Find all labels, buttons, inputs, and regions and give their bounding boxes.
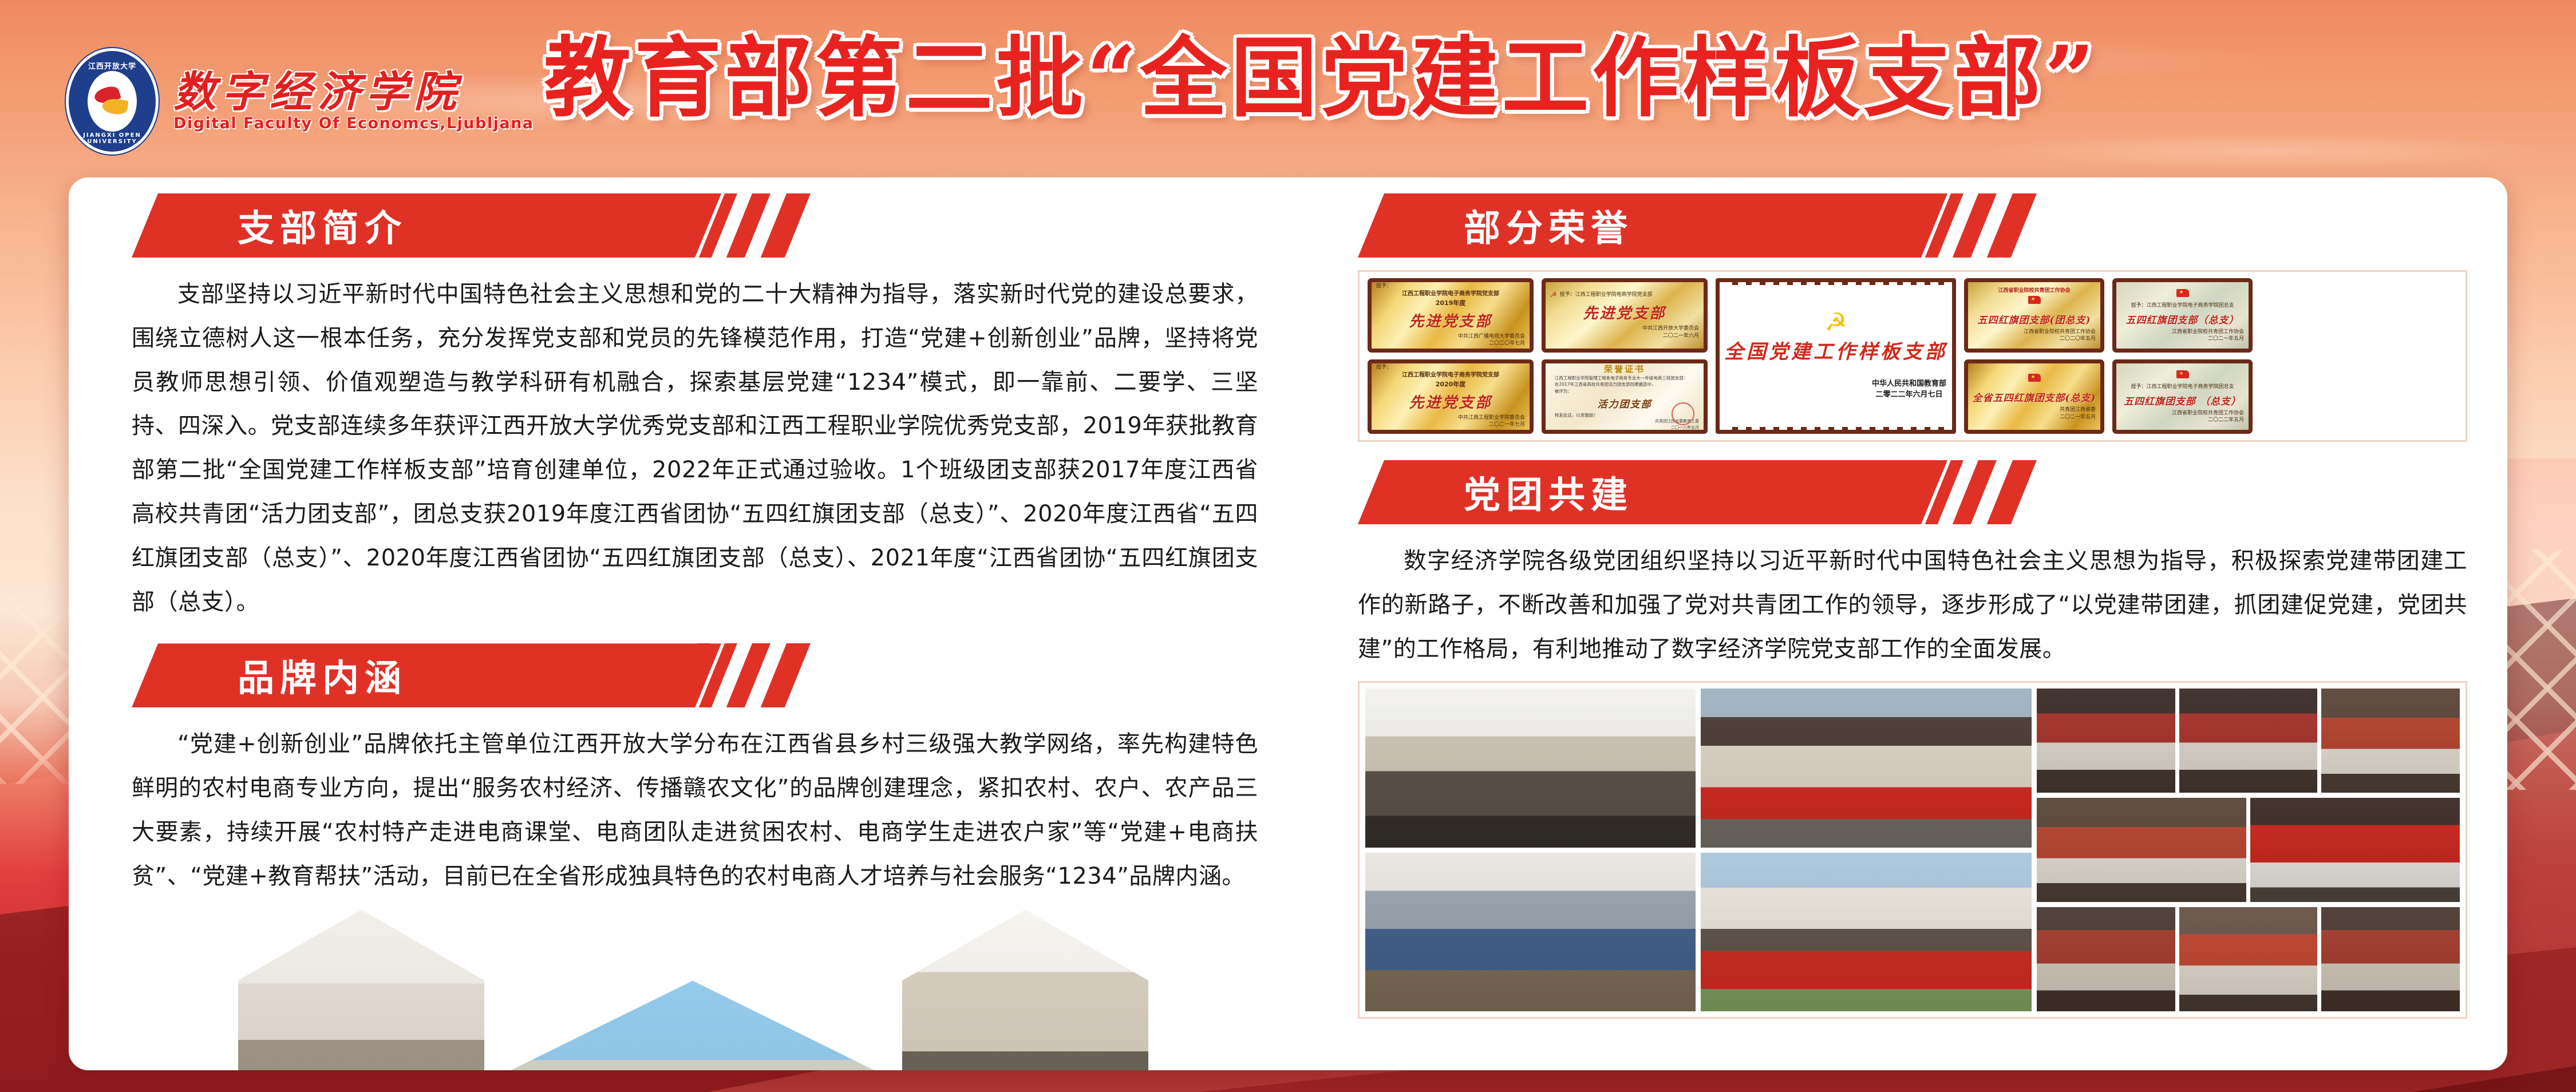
plaque-award-name: 先进党支部: [1409, 391, 1492, 412]
certificate-issuer: 中华人民共和国教育部: [1872, 379, 1946, 390]
seal-year: 1979: [69, 126, 156, 131]
photo-thumbnail: [2321, 689, 2460, 793]
photo-thumbnail: [2037, 798, 2246, 902]
certificate-award-name: 全国党建工作样板支部: [1724, 336, 1947, 364]
plaque-date: 二〇二一年五月: [2060, 414, 2096, 421]
photo-museum-group-1[interactable]: 八一馆参观 — 团旗合影: [2037, 689, 2175, 793]
plaque-2019-advanced-branch[interactable]: 授予： 江西工程职业学院电子商务学院党支部 2019年度 先进党支部 中共江西广…: [1368, 278, 1534, 353]
photo-subgrid-right: 八一馆参观 — 团旗合影 八一馆参观 — 队伍合影 江西工程职业学院电子商务学院…: [2037, 689, 2460, 1011]
content-panel: 支部简介 支部坚持以习近平新时代中国特色社会主义思想和党的二十大精神为指导，落实…: [69, 177, 2507, 1070]
youth-league-emblem-icon: ★: [2027, 373, 2042, 386]
photo-caption: 八一馆参观 — 队伍合影: [2179, 793, 2180, 793]
faculty-name-en: Digital Faculty Of Economcs,Ljubljana: [173, 114, 534, 132]
plaque-may-fourth-red-flag-branch-2022[interactable]: ★ 授予：江西工程职业学院电子商务学院团总支 五四红旗团支部 （总支） 江西省职…: [2112, 359, 2253, 434]
hammer-and-sickle-icon: ☭: [1824, 311, 1847, 334]
photo-lecture-hall[interactable]: 主题党课宣讲: [1365, 689, 1696, 848]
photo-caption: 展厅参观 — 队列: [2037, 1011, 2037, 1012]
section-body-brand-connotation: “党建+创新创业”品牌依托主管单位江西开放大学分布在江西省县乡村三级强大教学网络…: [132, 722, 1258, 898]
plaque-issuer: 中共江西开放大学委员会: [1642, 325, 1699, 333]
photo-museum-group-3[interactable]: 江西工程职业学院电子商务学院横幅合影: [2321, 689, 2460, 793]
section-header-party-league-building: 党团共建: [1358, 460, 2507, 524]
plaque-head: 江西省职业院校共青团工作协会: [1998, 288, 2070, 295]
photo-thumbnail: [2179, 907, 2318, 1011]
banner-stripes: [1919, 193, 2068, 258]
section-title-branch-intro: 支部简介: [132, 193, 704, 258]
photo-exhibition-hall-2[interactable]: 红色教育基地参观: [2250, 798, 2460, 902]
photo-village-team[interactable]: 江西工程职业学院电商乡村振兴团队: [1701, 853, 2031, 1012]
section-body-party-league-building: 数字经济学院各级党团组织坚持以习近平新时代中国特色社会主义思想为指导，积极探索党…: [1358, 539, 2467, 671]
plaque-issuer: 江西省职业院校共青团工作协会: [2172, 410, 2244, 417]
plaque-2020-advanced-branch[interactable]: 授予： 江西工程职业学院电子商务学院党支部 2020年度 先进党支部 中共江西工…: [1368, 359, 1534, 434]
photo-thumbnail: [2037, 689, 2175, 793]
plaque-issuer: 江西省职业院校共青团工作协会: [2172, 329, 2244, 336]
plaque-date: 二〇二〇年五月: [2060, 335, 2096, 343]
youth-league-emblem-icon: ★: [2175, 288, 2190, 302]
right-column: 部分荣誉 授予： 江西工程职业学院电子商务学院党支部 2019年度 先进党支部 …: [1322, 177, 2507, 1019]
plaque-group-mid: ☭ 授予：江西工程职业学院电商学院党支部 先进党支部 中共江西开放大学委员会 二…: [1542, 278, 1708, 434]
plaque-issuer: 中共江西工程职业学院委员会: [1458, 414, 1525, 422]
plaque-head: 授予：江西工程职业学院电子商务学院团总支: [2131, 384, 2234, 391]
certificate-line-3: 被评为：: [1555, 388, 1694, 394]
plaque-award-name: 五四红旗团支部（总支）: [2126, 312, 2239, 326]
photo-thumbnail: [1365, 689, 1696, 848]
red-seal-icon: [1672, 402, 1694, 425]
section-title-brand-connotation: 品牌内涵: [132, 643, 704, 707]
plaque-may-fourth-red-flag-branch-general[interactable]: ★ 授予：江西工程职业学院电子商务学院团总支 五四红旗团支部（总支） 江西省职业…: [2112, 278, 2253, 353]
plaque-award-name: 先进党支部: [1583, 302, 1666, 323]
photo-caption: 古祠堂前党旗合影: [1701, 848, 1701, 848]
page-title: 教育部第二批“全国党建工作样板支部”: [544, 30, 2536, 125]
section-title-party-league-building: 党团共建: [1358, 460, 1930, 524]
photo-thumbnail: [1701, 689, 2031, 848]
section-title-partial-honors: 部分荣誉: [1358, 193, 1930, 258]
party-emblem-icon: ☭: [1550, 291, 1557, 299]
plaque-advanced-branch-jxou[interactable]: ☭ 授予：江西工程职业学院电商学院党支部 先进党支部 中共江西开放大学委员会 二…: [1542, 278, 1708, 353]
plaque-head: 授予：: [1376, 283, 1392, 290]
photo-youth-flag-group[interactable]: 青春向党 红色新时代 — 团旗合影: [492, 981, 893, 1070]
plaque-date: 二〇二二年五月: [2208, 417, 2244, 424]
photo-home-visit[interactable]: 入户走访调研: [1365, 853, 1696, 1012]
photo-thumbnail: [902, 910, 1148, 1070]
seal-arc-bottom: JIANGXI OPEN UNIVERSITY: [69, 132, 156, 145]
seal-swoosh-icon: [94, 85, 130, 117]
photo-party-activity-room[interactable]: 党员活动室 / 党建文化墙: [238, 910, 484, 1070]
photo-thumbnail: [1701, 853, 2031, 1012]
banner-stripes: [1919, 460, 2068, 524]
plaque-award-name: 全省五四红旗团支部(总支): [1972, 390, 2096, 404]
photo-caption: 八一馆参观 — 团旗合影: [2037, 793, 2037, 793]
photo-thumbnail: [2179, 689, 2318, 793]
photo-thumbnail: [2321, 907, 2460, 1011]
certificate-date: 二零二二年六月七日: [1872, 390, 1946, 401]
faculty-name-cn: 数字经济学院: [173, 71, 534, 113]
photo-thumbnail: [2037, 907, 2175, 1011]
photo-thumbnail: [1365, 853, 1696, 1012]
university-seal-icon: 江西开放大学 1979 JIANGXI OPEN UNIVERSITY: [66, 48, 159, 155]
national-model-branch-certificate[interactable]: ☭ 全国党建工作样板支部 中华人民共和国教育部 二零二二年六月七日: [1716, 278, 1956, 434]
photo-exhibition-hall-1[interactable]: 展馆参观学习: [2037, 798, 2246, 902]
photo-thumbnail: [492, 981, 893, 1070]
photo-caption: 入户走访调研: [1365, 1011, 1366, 1012]
seal-inner: [88, 71, 137, 132]
banner-stripes: [693, 643, 841, 707]
photo-ancestral-hall-flag[interactable]: 古祠堂前党旗合影: [1701, 689, 2031, 848]
brand-text: 数字经济学院 Digital Faculty Of Economcs,Ljubl…: [173, 71, 534, 132]
poster-header: 江西开放大学 1979 JIANGXI OPEN UNIVERSITY 数字经济…: [0, 0, 2576, 183]
plaque-recipient: 江西工程职业学院电子商务学院党支部: [1402, 371, 1499, 379]
plaque-date: 二〇二一年六月: [1663, 333, 1699, 340]
photo-gallery-visit-2[interactable]: 展厅参观 — 合影: [2179, 907, 2318, 1011]
section-body-branch-intro: 支部坚持以习近平新时代中国特色社会主义思想和党的二十大精神为指导，落实新时代党的…: [132, 272, 1258, 624]
honor-certificate-vitality-league-branch[interactable]: 荣誉证书 江西工程职业学院管理工程系电子商务专业大一年级电商三班团支部： 在20…: [1542, 359, 1708, 434]
plaque-provincial-may-fourth-red-flag-2021[interactable]: ★ 全省五四红旗团支部(总支) 共青团江西省委 二〇二一年五月: [1964, 359, 2104, 434]
certificate-title: 荣誉证书: [1604, 363, 1645, 375]
section-header-partial-honors: 部分荣誉: [1358, 193, 2507, 258]
section-header-branch-intro: 支部简介: [132, 193, 1322, 258]
photo-caption: 江西工程职业学院电子商务学院横幅合影: [2321, 793, 2322, 793]
photo-conference-room[interactable]: 会议室 / 荣誉锦旗: [902, 910, 1148, 1070]
photo-thumbnail: [238, 910, 484, 1070]
plaque-year: 2020年度: [1436, 379, 1466, 389]
certificate-line-2: 在2017年江西省高校共青团活力团支部创建遴选中，: [1555, 381, 1694, 387]
plaque-award-name: 先进党支部: [1409, 310, 1492, 331]
hexagon-photo-collage: 党员活动室 / 党建文化墙 “不忘初心、牢记使命”主题教育活动-电商党支部关爱学…: [69, 918, 1322, 1070]
plaque-head: 授予：江西工程职业学院电子商务学院团总支: [2131, 303, 2234, 310]
youth-league-emblem-icon: ★: [2175, 369, 2190, 383]
photo-gallery-visit-3[interactable]: 展厅参观 — 浮雕前: [2321, 907, 2460, 1011]
plaque-date: 二〇二〇年七月: [1489, 340, 1525, 347]
seal-arc-top: 江西开放大学: [69, 60, 156, 71]
plaque-date: 二〇二一年七月: [1489, 421, 1525, 429]
plaque-head: 授予：: [1376, 365, 1392, 371]
activity-photo-grid: 主题党课宣讲 古祠堂前党旗合影 入户走访调研 江西工程职业学院电商乡村振兴团队: [1358, 681, 2467, 1019]
photo-caption: 展厅参观 — 浮雕前: [2321, 1011, 2322, 1012]
honors-board: 授予： 江西工程职业学院电子商务学院党支部 2019年度 先进党支部 中共江西广…: [1358, 270, 2467, 442]
plaque-recipient: 江西工程职业学院电子商务学院党支部: [1402, 290, 1499, 298]
banner-stripes: [693, 193, 841, 258]
photo-caption: 红色教育基地参观: [2250, 902, 2251, 903]
plaque-year: 2019年度: [1436, 298, 1466, 307]
plaque-issuer: 共青团江西省委: [2060, 406, 2096, 414]
plaque-group-right-2: ★ 授予：江西工程职业学院电子商务学院团总支 五四红旗团支部（总支） 江西省职业…: [2112, 278, 2253, 434]
brand-lockup: 江西开放大学 1979 JIANGXI OPEN UNIVERSITY 数字经济…: [66, 48, 534, 155]
photo-gallery-visit-1[interactable]: 展厅参观 — 队列: [2037, 907, 2175, 1011]
plaque-issuer: 中共江西广播电视大学委员会: [1458, 333, 1525, 341]
certificate-award-name: 活力团支部: [1598, 396, 1652, 410]
photo-thumbnail: [2250, 798, 2460, 902]
photo-caption: 展厅参观 — 合影: [2179, 1011, 2180, 1012]
plaque-award-name: 五四红旗团支部 （总支）: [2124, 393, 2241, 407]
plaque-date: 二〇二一年五月: [2208, 335, 2244, 343]
certificate-line-1: 江西工程职业学院管理工程系电子商务专业大一年级电商三班团支部：: [1555, 375, 1694, 381]
plaque-award-name: 五四红旗团支部(团总支): [1977, 312, 2091, 326]
poster-root: 江西开放大学 1979 JIANGXI OPEN UNIVERSITY 数字经济…: [0, 0, 2576, 1092]
youth-league-emblem-icon: ★: [2027, 295, 2042, 308]
plaque-group-right-1: 江西省职业院校共青团工作协会 ★ 五四红旗团支部(团总支) 江西省职业院校共青团…: [1964, 278, 2104, 434]
photo-museum-group-2[interactable]: 八一馆参观 — 队伍合影: [2179, 689, 2318, 793]
photo-caption: 主题党课宣讲: [1365, 848, 1366, 848]
left-column: 支部简介 支部坚持以习近平新时代中国特色社会主义思想和党的二十大精神为指导，落实…: [69, 177, 1322, 1070]
photo-caption: 江西工程职业学院电商乡村振兴团队: [1701, 1011, 1701, 1012]
plaque-group-left: 授予： 江西工程职业学院电子商务学院党支部 2019年度 先进党支部 中共江西广…: [1368, 278, 1534, 434]
section-header-brand-connotation: 品牌内涵: [132, 643, 1322, 707]
plaque-issuer: 江西省职业院校共青团工作协会: [2024, 329, 2096, 336]
photo-caption: 展馆参观学习: [2037, 902, 2037, 903]
certificate-date: 二〇一八年五月: [1671, 425, 1699, 431]
plaque-may-fourth-red-flag-branch-2020[interactable]: 江西省职业院校共青团工作协会 ★ 五四红旗团支部(团总支) 江西省职业院校共青团…: [1964, 278, 2104, 353]
plaque-head: 授予：江西工程职业学院电商学院党支部: [1560, 292, 1653, 299]
